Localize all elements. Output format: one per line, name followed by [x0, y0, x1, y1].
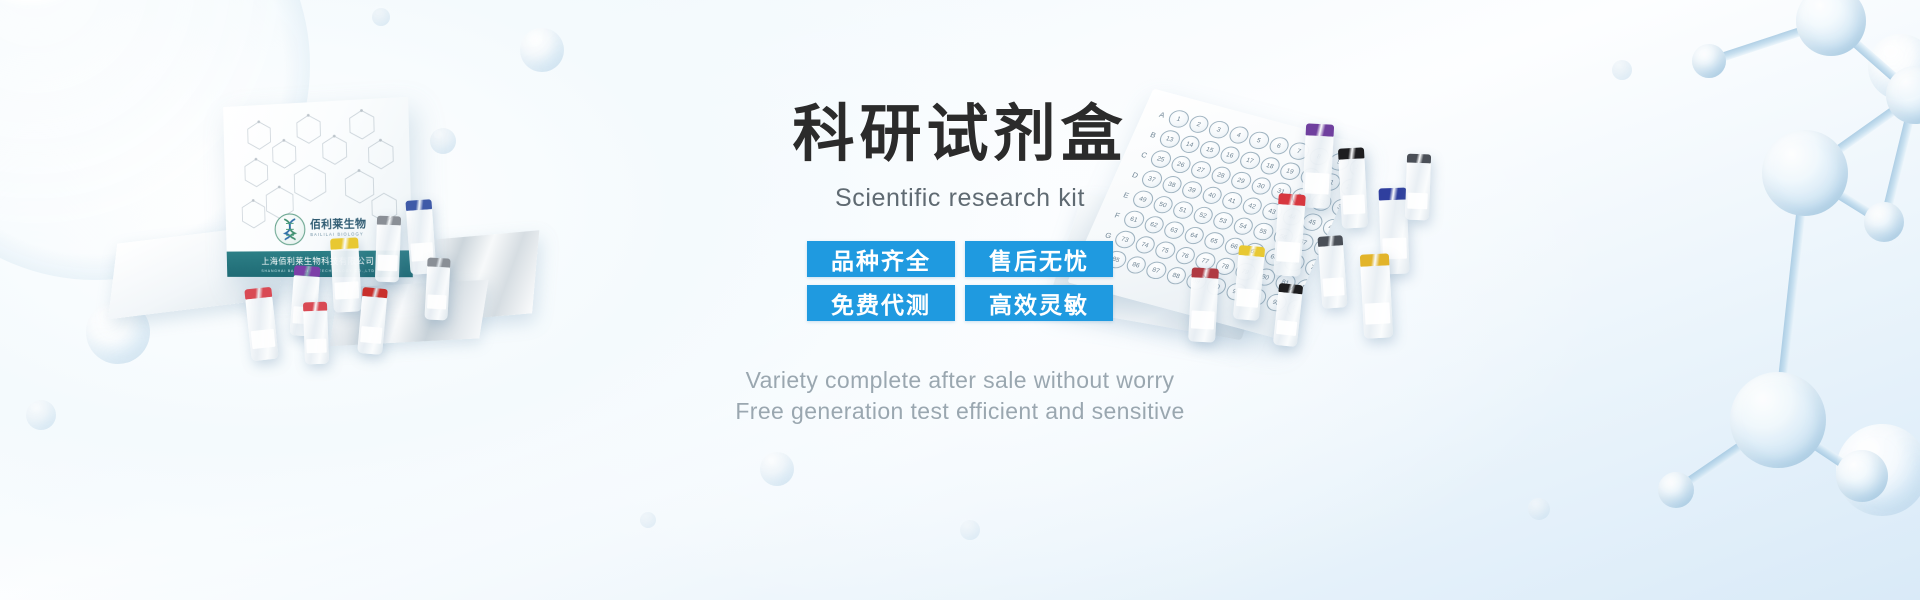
left-vial-5-body	[245, 297, 278, 361]
molecule-node-6	[1730, 372, 1826, 468]
microplate-well-48: 48	[1360, 227, 1367, 249]
left-vial-5-label	[251, 329, 275, 349]
molecule-node-5	[1864, 202, 1904, 242]
tagline-line-1: Variety complete after sale without worr…	[560, 365, 1360, 396]
left-vial-7	[303, 302, 329, 365]
left-vial-3-label	[335, 281, 359, 300]
left-vial-3-body	[331, 248, 362, 312]
left-vial-8	[424, 257, 450, 320]
feature-badge-4[interactable]: 高效灵敏	[965, 285, 1113, 321]
dna-strand-icon	[281, 218, 299, 240]
molecule-node-4	[1692, 44, 1726, 78]
feature-badge-group: 品种齐全售后无忧免费代测高效灵敏	[804, 211, 1116, 321]
right-vial-10-body	[1405, 163, 1431, 221]
right-vial-10-label	[1407, 192, 1428, 209]
left-vial-7-body	[303, 311, 329, 365]
banner-tagline: Variety complete after sale without worr…	[560, 321, 1360, 428]
right-vial-8-body	[1360, 265, 1393, 338]
tagline-line-2: Free generation test efficient and sensi…	[560, 396, 1360, 427]
bubble-6	[26, 400, 56, 430]
molecule-node-8	[1658, 472, 1694, 508]
kit-brand-name-en: BAILILAI BIOLOGY	[310, 233, 366, 238]
molecule-node-7	[1836, 450, 1888, 502]
feature-badge-3[interactable]: 免费代测	[807, 285, 955, 321]
banner-title-cn: 科研试剂盒	[560, 0, 1360, 166]
feature-badge-2[interactable]: 售后无忧	[965, 241, 1113, 277]
left-vial-6-label	[360, 326, 382, 344]
right-vial-8-label	[1365, 303, 1390, 324]
promo-banner: 佰利莱生物 BAILILAI BIOLOGY 上海佰利莱生物科技有限公司 SHA…	[0, 0, 1920, 600]
dna-helix-icon	[274, 213, 305, 245]
molecule-decoration	[1600, 0, 1920, 600]
left-vial-6	[357, 287, 388, 355]
left-vial-8-label	[427, 294, 447, 310]
banner-text-block: 科研试剂盒 Scientific research kit 品种齐全售后无忧免费…	[560, 0, 1360, 600]
left-vial-6-body	[357, 296, 387, 355]
feature-badge-1[interactable]: 品种齐全	[807, 241, 955, 277]
left-vial-3	[330, 237, 362, 312]
left-vial-8-body	[424, 266, 450, 320]
left-product-photo: 佰利莱生物 BAILILAI BIOLOGY 上海佰利莱生物科技有限公司 SHA…	[108, 88, 558, 388]
left-vial-2-label	[377, 254, 398, 271]
right-vial-10	[1405, 154, 1431, 221]
kit-brand-name-cn: 佰利莱生物	[310, 220, 367, 232]
right-vial-4-cap	[1379, 188, 1407, 201]
molecule-node-3	[1762, 130, 1848, 216]
bubble-4	[372, 8, 390, 26]
left-vial-7-label	[306, 338, 327, 354]
left-vial-2	[375, 216, 401, 283]
bubble-2	[520, 28, 564, 72]
right-vial-8	[1360, 253, 1393, 338]
left-vial-2-body	[375, 225, 401, 283]
bubble-13	[1528, 498, 1550, 520]
banner-subtitle-en: Scientific research kit	[560, 166, 1360, 211]
